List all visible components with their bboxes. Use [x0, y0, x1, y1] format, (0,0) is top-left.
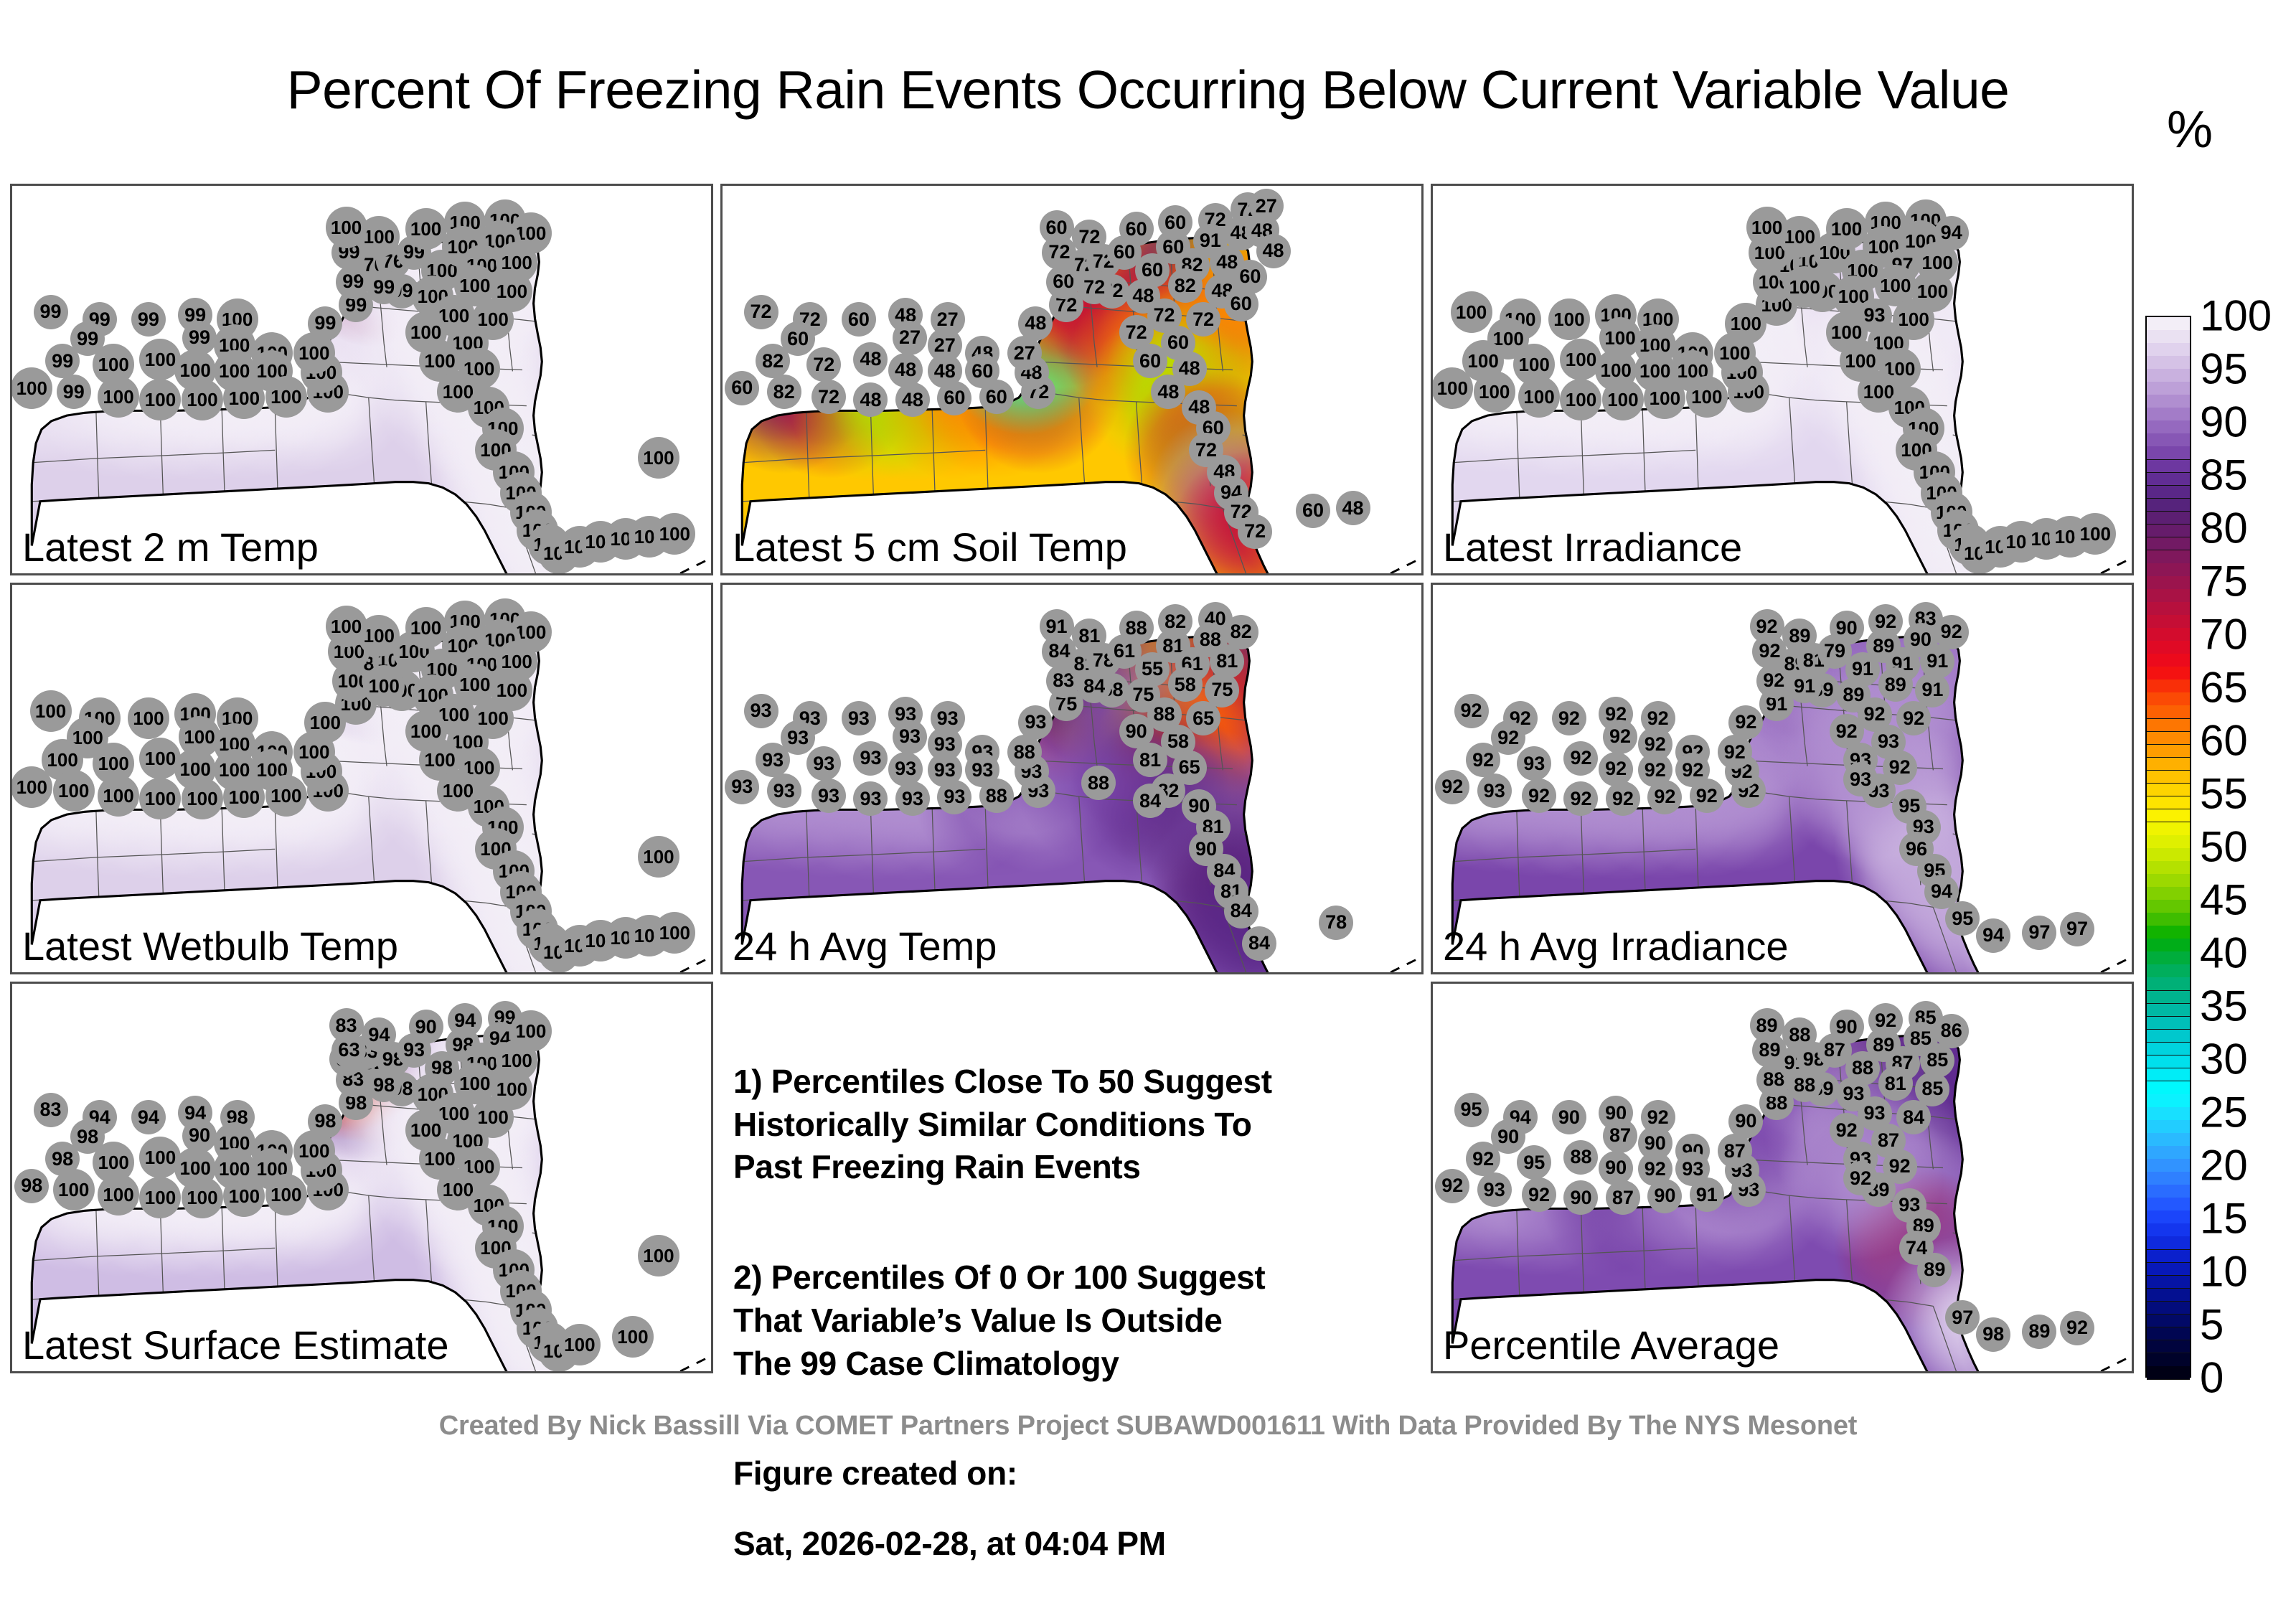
station-marker[interactable]: 100 [1518, 376, 1560, 418]
colorbar-segment [2147, 874, 2190, 888]
panel-label: Latest 2 m Temp [22, 527, 319, 569]
colorbar-gradient [2145, 316, 2191, 1378]
colorbar-segment [2147, 446, 2190, 460]
station-marker[interactable]: 100 [405, 607, 447, 649]
station-marker[interactable]: 60 [937, 381, 971, 415]
station-marker[interactable]: 83 [34, 1093, 68, 1127]
station-marker[interactable]: 92 [1435, 1169, 1469, 1203]
station-marker[interactable]: 93 [756, 743, 790, 777]
colorbar-segment [2147, 1263, 2190, 1276]
station-marker[interactable]: 92 [1843, 1161, 1878, 1195]
station-marker[interactable]: 93 [1477, 1172, 1512, 1207]
figure-root: Percent Of Freezing Rain Events Occurrin… [0, 0, 2296, 1464]
colorbar-segment [2147, 848, 2190, 862]
panel-latest-5cm-soil-temp[interactable]: 7272606082724848272727484848606082724848… [720, 184, 1424, 575]
station-marker[interactable]: 90 [1728, 1104, 1763, 1139]
boundary-dashed [2101, 1356, 2132, 1371]
map-canvas: 1001001001001001001001001001001001001001… [12, 585, 711, 972]
station-marker[interactable]: 99 [45, 344, 80, 378]
colorbar-segment [2147, 667, 2190, 680]
colorbar-tick-label: 0 [2200, 1353, 2224, 1403]
station-marker[interactable]: 100 [363, 665, 405, 707]
colorbar-segment [2147, 1133, 2190, 1147]
station-marker[interactable]: 95 [1945, 901, 1980, 936]
station-marker[interactable]: 100 [265, 376, 307, 418]
map-canvas: 9594909092958890879290909290939293929087… [1433, 984, 2132, 1371]
station-marker[interactable]: 82 [756, 344, 790, 378]
colorbar-segment [2147, 1159, 2190, 1172]
station-marker[interactable]: 58 [1168, 667, 1203, 702]
station-marker[interactable]: 93 [937, 780, 971, 814]
colorbar-tick-label: 50 [2200, 822, 2248, 872]
station-marker[interactable]: 91 [1690, 1177, 1724, 1212]
station-marker[interactable]: 100 [1560, 379, 1601, 420]
station-marker[interactable]: 100 [638, 437, 679, 479]
colorbar-segment [2147, 382, 2190, 395]
map-canvas: 7272606082724848272727484848606082724848… [723, 186, 1421, 573]
station-marker[interactable]: 100 [182, 379, 223, 420]
colorbar-segment [2147, 1185, 2190, 1198]
panel-label: 24 h Avg Irradiance [1443, 926, 1789, 968]
station-marker[interactable]: 92 [1728, 705, 1763, 740]
station-marker[interactable]: 90 [1563, 1180, 1598, 1215]
station-marker[interactable]: 99 [34, 295, 68, 329]
boundary-dashed [1391, 957, 1421, 972]
colorbar-segment [2147, 1353, 2190, 1367]
station-marker[interactable]: 92 [1522, 1177, 1556, 1212]
station-marker[interactable]: 100 [1548, 298, 1590, 340]
station-marker[interactable]: 72 [744, 295, 778, 329]
footer-credit: Created By Nick Bassill Via COMET Partne… [0, 1411, 2296, 1442]
station-marker[interactable]: 99 [57, 375, 91, 409]
station-marker[interactable]: 92 [1466, 1142, 1500, 1176]
station-marker[interactable]: 90 [1830, 1010, 1864, 1044]
station-marker[interactable]: 92 [1435, 770, 1469, 804]
station-marker[interactable]: 78 [1319, 906, 1353, 940]
colorbar-segment [2147, 395, 2190, 408]
map-canvas: 8394949898100100949098100100100100100981… [12, 984, 711, 1371]
station-marker[interactable]: 89 [1782, 619, 1817, 653]
colorbar-tick-label: 35 [2200, 982, 2248, 1031]
panel-label: Latest Surface Estimate [22, 1325, 449, 1367]
station-marker[interactable]: 100 [128, 697, 169, 739]
station-marker[interactable]: 60 [725, 371, 759, 405]
station-marker[interactable]: 93 [1517, 746, 1551, 781]
station-marker[interactable]: 72 [1077, 270, 1111, 304]
station-marker[interactable]: 100 [223, 776, 265, 818]
station-marker[interactable]: 93 [725, 770, 759, 804]
station-marker[interactable]: 93 [744, 694, 778, 728]
station-marker[interactable]: 93 [853, 741, 888, 776]
station-marker[interactable]: 72 [1072, 220, 1106, 254]
station-marker[interactable]: 88 [979, 779, 1014, 813]
station-marker[interactable]: 94 [131, 1100, 166, 1134]
station-marker[interactable]: 100 [98, 1174, 139, 1216]
colorbar-segment [2147, 1146, 2190, 1160]
panel-latest-irradiance[interactable]: 1001001001001001001001001001001001001001… [1431, 184, 2134, 575]
panel-label: Latest Wetbulb Temp [22, 926, 398, 968]
colorbar-segment [2147, 1340, 2190, 1354]
colorbar-segment [2147, 692, 2190, 706]
station-marker[interactable]: 89 [1917, 1253, 1952, 1287]
colorbar-segment [2147, 654, 2190, 667]
station-marker[interactable]: 90 [1599, 1151, 1633, 1185]
station-marker[interactable]: 98 [367, 1068, 401, 1102]
station-marker[interactable]: 100 [1746, 207, 1788, 248]
station-marker[interactable]: 93 [1843, 762, 1878, 796]
station-marker[interactable]: 92 [1454, 694, 1489, 728]
station-marker[interactable]: 93 [1477, 774, 1512, 808]
station-marker[interactable]: 99 [367, 270, 401, 304]
colorbar-tick-label: 25 [2200, 1088, 2248, 1137]
colorbar-segment [2147, 1172, 2190, 1185]
created-on-value: Sat, 2026-02-28, at 04:04 PM [733, 1523, 1422, 1566]
station-marker[interactable]: 100 [139, 778, 181, 819]
colorbar-segment [2147, 356, 2190, 370]
colorbar-segment [2147, 705, 2190, 719]
colorbar-segment [2147, 460, 2190, 474]
colorbar-tick-label: 5 [2200, 1300, 2224, 1350]
boundary-dashed [680, 957, 711, 972]
colorbar-segment [2147, 628, 2190, 641]
colorbar-segment [2147, 1055, 2190, 1069]
colorbar-tick-label: 30 [2200, 1035, 2248, 1084]
station-marker[interactable]: 88 [1007, 735, 1042, 769]
colorbar-segment [2147, 1081, 2190, 1095]
station-marker[interactable]: 100 [2074, 513, 2116, 555]
station-marker[interactable]: 98 [1976, 1317, 2010, 1352]
colorbar-segment [2147, 991, 2190, 1005]
station-marker[interactable]: 88 [1563, 1140, 1598, 1175]
station-marker[interactable]: 81 [1133, 743, 1167, 777]
station-marker[interactable]: 84 [1224, 894, 1258, 928]
colorbar-segment [2147, 745, 2190, 758]
station-marker[interactable]: 92 [1563, 741, 1598, 776]
station-marker[interactable]: 100 [98, 376, 139, 418]
colorbar-tick-label: 70 [2200, 610, 2248, 659]
station-marker[interactable]: 93 [767, 774, 801, 808]
station-marker[interactable]: 100 [1474, 371, 1515, 413]
station-marker[interactable]: 89 [2022, 1315, 2056, 1349]
panel-label: Latest Irradiance [1443, 527, 1742, 569]
colorbar-segment [2147, 784, 2190, 797]
colorbar-segment [2147, 1120, 2190, 1134]
colorbar-segment [2147, 330, 2190, 344]
colorbar-segment [2147, 939, 2190, 952]
panel-24h-avg-temp[interactable]: 9393939393939393939393939393939393939393… [720, 583, 1424, 974]
colorbar-segment [2147, 1366, 2190, 1380]
colorbar-tick-label: 75 [2200, 557, 2248, 606]
station-marker[interactable]: 84 [1242, 926, 1276, 961]
station-marker[interactable]: 97 [2022, 916, 2056, 950]
panel-latest-2m-temp[interactable]: 9999999999100100999910010010010010010010… [10, 184, 713, 575]
station-marker[interactable]: 27 [1007, 336, 1042, 370]
station-marker[interactable]: 92 [1750, 609, 1784, 644]
station-marker[interactable]: 82 [767, 375, 801, 409]
colorbar-segment [2147, 861, 2190, 875]
colorbar-segment [2147, 732, 2190, 746]
colorbar-segment [2147, 822, 2190, 836]
map-canvas: 9292929292939292929292929292929293929292… [1433, 585, 2132, 972]
station-marker[interactable]: 93 [895, 781, 930, 816]
colorbar-segment [2147, 433, 2190, 447]
station-marker[interactable]: 91 [1787, 669, 1822, 703]
station-marker[interactable]: 60 [1224, 287, 1258, 321]
colorbar-segment [2147, 835, 2190, 849]
station-marker[interactable]: 72 [811, 380, 846, 414]
colorbar-segment [2147, 1302, 2190, 1315]
station-marker[interactable]: 99 [308, 306, 342, 341]
station-marker[interactable]: 100 [1602, 379, 1644, 420]
colorbar[interactable] [2145, 316, 2191, 1378]
colorbar-segment [2147, 408, 2190, 421]
station-marker[interactable]: 100 [654, 912, 695, 954]
station-marker[interactable]: 81 [1072, 619, 1106, 653]
colorbar-segment [2147, 602, 2190, 616]
station-marker[interactable]: 87 [1603, 1119, 1637, 1153]
colorbar-tick-label: 65 [2200, 663, 2248, 713]
station-marker[interactable]: 93 [842, 701, 876, 735]
colorbar-segment [2147, 926, 2190, 939]
panel-latest-wetbulb-temp[interactable]: 1001001001001001001001001001001001001001… [10, 583, 713, 974]
colorbar-tick-label: 45 [2200, 875, 2248, 925]
panel-label: Latest 5 cm Soil Temp [733, 527, 1127, 569]
station-marker[interactable]: 100 [11, 367, 52, 409]
boundary-dashed [680, 558, 711, 573]
colorbar-segment [2147, 563, 2190, 577]
colorbar-segment [2147, 1068, 2190, 1082]
colorbar-tick-label: 90 [2200, 398, 2248, 447]
colorbar-segment [2147, 550, 2190, 564]
colorbar-segment [2147, 1223, 2190, 1237]
colorbar-segment [2147, 771, 2190, 784]
station-marker[interactable]: 100 [11, 766, 52, 808]
station-marker[interactable]: 97 [1945, 1300, 1980, 1335]
station-marker[interactable]: 100 [30, 690, 72, 732]
map-canvas: 9393939393939393939393939393939393939393… [723, 585, 1421, 972]
station-marker[interactable]: 100 [53, 770, 95, 812]
panel-24h-avg-irradiance[interactable]: 9292929292939292929292929292929293929292… [1431, 583, 2134, 974]
station-marker[interactable]: 88 [1119, 611, 1154, 645]
colorbar-segment [2147, 525, 2190, 538]
station-marker[interactable]: 48 [853, 342, 888, 377]
station-marker[interactable]: 100 [223, 1175, 265, 1217]
station-marker[interactable]: 84 [1133, 784, 1167, 818]
station-marker[interactable]: 90 [1647, 1179, 1682, 1213]
colorbar-segment [2147, 1043, 2190, 1056]
station-marker[interactable]: 100 [326, 606, 367, 647]
colorbar-segment [2147, 951, 2190, 965]
colorbar-segment [2147, 369, 2190, 382]
station-marker[interactable]: 100 [223, 377, 265, 419]
colorbar-segment [2147, 1107, 2190, 1121]
station-marker[interactable]: 60 [1296, 494, 1330, 528]
page-title: Percent Of Freezing Rain Events Occurrin… [0, 63, 2296, 117]
station-marker[interactable]: 100 [1451, 291, 1492, 333]
station-marker[interactable]: 93 [1018, 705, 1053, 740]
boundary-dashed [1391, 558, 1421, 573]
station-marker[interactable]: 100 [638, 836, 679, 878]
station-marker[interactable]: 72 [1238, 514, 1272, 549]
station-marker[interactable]: 100 [405, 208, 447, 250]
station-marker[interactable]: 90 [1830, 611, 1864, 645]
colorbar-segment [2147, 758, 2190, 771]
station-marker[interactable]: 87 [1606, 1180, 1640, 1215]
colorbar-segment [2147, 1276, 2190, 1289]
colorbar-segment [2147, 499, 2190, 512]
station-marker[interactable]: 98 [14, 1169, 49, 1203]
station-marker[interactable]: 48 [1336, 491, 1370, 525]
station-marker[interactable]: 94 [362, 1017, 396, 1052]
colorbar-segment [2147, 512, 2190, 525]
station-marker[interactable]: 93 [806, 746, 841, 781]
colorbar-segment [2147, 343, 2190, 357]
station-marker[interactable]: 100 [1784, 266, 1825, 308]
station-marker[interactable]: 90 [1552, 1100, 1586, 1134]
colorbar-segment [2147, 796, 2190, 810]
colorbar-tick-label: 80 [2200, 504, 2248, 553]
colorbar-segment [2147, 1236, 2190, 1250]
station-marker[interactable]: 92 [1718, 735, 1752, 769]
station-marker[interactable]: 100 [139, 379, 181, 420]
station-marker[interactable]: 92 [2060, 1311, 2094, 1345]
station-marker[interactable]: 92 [1599, 752, 1633, 786]
colorbar-segment [2147, 964, 2190, 978]
station-marker[interactable]: 100 [559, 1324, 601, 1365]
station-marker[interactable]: 82 [1168, 268, 1203, 303]
station-marker[interactable]: 90 [409, 1010, 443, 1044]
colorbar-segment [2147, 719, 2190, 733]
colorbar-segment [2147, 589, 2190, 603]
station-marker[interactable]: 100 [1644, 377, 1685, 419]
station-marker[interactable]: 93 [893, 720, 927, 754]
station-marker[interactable]: 100 [98, 775, 139, 817]
colorbar-segment [2147, 1250, 2190, 1264]
panel-percentile-average[interactable]: 9594909092958890879290909290939293929087… [1431, 982, 2134, 1373]
boundary-dashed [2101, 957, 2132, 972]
colorbar-segment [2147, 1289, 2190, 1302]
station-marker[interactable]: 88 [1782, 1017, 1817, 1052]
station-marker[interactable]: 48 [853, 382, 888, 417]
station-marker[interactable]: 100 [265, 775, 307, 817]
station-marker[interactable]: 100 [1686, 376, 1728, 418]
map-canvas: 9999999999100100999910010010010010010010… [12, 186, 711, 573]
station-marker[interactable]: 72 [806, 347, 841, 382]
created-on-label: Figure created on: [733, 1452, 1422, 1495]
panel-latest-surface-estimate[interactable]: 8394949898100100949098100100100100100981… [10, 982, 713, 1373]
colorbar-segment [2147, 1017, 2190, 1030]
colorbar-segment [2147, 420, 2190, 434]
station-marker[interactable]: 100 [654, 513, 695, 555]
station-marker[interactable]: 100 [139, 1177, 181, 1218]
colorbar-tick-label: 10 [2200, 1247, 2248, 1297]
colorbar-segment [2147, 1210, 2190, 1224]
station-marker[interactable]: 100 [326, 207, 367, 248]
station-marker[interactable]: 92 [1522, 779, 1556, 813]
colorbar-tick-label: 60 [2200, 716, 2248, 766]
colorbar-segment [2147, 1198, 2190, 1211]
station-marker[interactable]: 60 [1119, 212, 1154, 246]
station-marker[interactable]: 100 [638, 1235, 679, 1276]
station-marker[interactable]: 84 [1077, 669, 1111, 703]
boundary-dashed [2101, 558, 2132, 573]
colorbar-segment [2147, 1315, 2190, 1328]
colorbar-segment [2147, 641, 2190, 654]
station-marker[interactable]: 83 [329, 1008, 364, 1043]
station-marker[interactable]: 60 [979, 380, 1014, 414]
station-marker[interactable]: 48 [895, 382, 930, 417]
station-marker[interactable]: 92 [1603, 720, 1637, 754]
station-marker[interactable]: 60 [1133, 344, 1167, 378]
station-marker[interactable]: 100 [182, 778, 223, 819]
station-marker[interactable]: 88 [1787, 1068, 1822, 1102]
colorbar-segment [2147, 1004, 2190, 1017]
station-marker[interactable]: 100 [265, 1174, 307, 1216]
station-marker[interactable]: 88 [1081, 766, 1116, 800]
colorbar-tick-label: 20 [2200, 1141, 2248, 1190]
station-marker[interactable]: 91 [1040, 609, 1074, 644]
panel-label: Percentile Average [1443, 1325, 1779, 1367]
station-marker[interactable]: 81 [1878, 1066, 1913, 1101]
station-marker[interactable]: 92 [1552, 701, 1586, 735]
station-marker[interactable]: 100 [1826, 208, 1868, 250]
station-marker[interactable]: 89 [1750, 1008, 1784, 1043]
station-marker[interactable]: 95 [1517, 1145, 1551, 1180]
colorbar-segment [2147, 913, 2190, 926]
station-marker[interactable]: 92 [1606, 781, 1640, 816]
colorbar-segment [2147, 576, 2190, 590]
station-marker[interactable]: 98 [308, 1104, 342, 1139]
boundary-dashed [680, 1356, 711, 1371]
colorbar-tick-label: 15 [2200, 1194, 2248, 1243]
station-marker[interactable]: 60 [1040, 210, 1074, 245]
station-marker[interactable]: 93 [888, 752, 923, 786]
station-marker[interactable]: 95 [1454, 1093, 1489, 1127]
station-marker[interactable]: 92 [1466, 743, 1500, 777]
station-marker[interactable]: 100 [53, 1169, 95, 1210]
station-marker[interactable]: 99 [131, 302, 166, 337]
colorbar-tick-label: 55 [2200, 769, 2248, 819]
station-marker[interactable]: 97 [2060, 912, 2094, 946]
colorbar-segment [2147, 887, 2190, 901]
station-marker[interactable]: 92 [1563, 781, 1598, 816]
station-marker[interactable]: 92 [1690, 779, 1724, 813]
colorbar-unit-label: % [2167, 100, 2296, 159]
station-marker[interactable]: 48 [888, 353, 923, 387]
colorbar-segment [2147, 1094, 2190, 1108]
colorbar-segment [2147, 977, 2190, 991]
station-marker[interactable]: 100 [182, 1177, 223, 1218]
station-marker[interactable]: 27 [893, 321, 927, 355]
note-2: 2) Percentiles Of 0 Or 100 Suggest That … [733, 1256, 1422, 1385]
station-marker[interactable]: 93 [811, 779, 846, 813]
colorbar-tick-label: 95 [2200, 344, 2248, 394]
station-marker[interactable]: 87 [1718, 1134, 1752, 1168]
station-marker[interactable]: 100 [612, 1316, 654, 1358]
station-marker[interactable]: 92 [1647, 780, 1682, 814]
colorbar-tick-label: 40 [2200, 928, 2248, 978]
colorbar-segment [2147, 1030, 2190, 1043]
colorbar-tick-label: 85 [2200, 451, 2248, 500]
notes-block: 1) Percentiles Close To 50 Suggest Histo… [733, 1017, 1422, 1608]
station-marker[interactable]: 60 [842, 302, 876, 337]
station-marker[interactable]: 94 [1976, 918, 2010, 953]
station-marker[interactable]: 93 [853, 781, 888, 816]
station-marker[interactable]: 100 [1431, 367, 1473, 409]
station-marker[interactable]: 48 [1018, 306, 1053, 341]
station-marker[interactable]: 89 [1878, 667, 1913, 702]
station-marker[interactable]: 48 [1151, 375, 1185, 409]
